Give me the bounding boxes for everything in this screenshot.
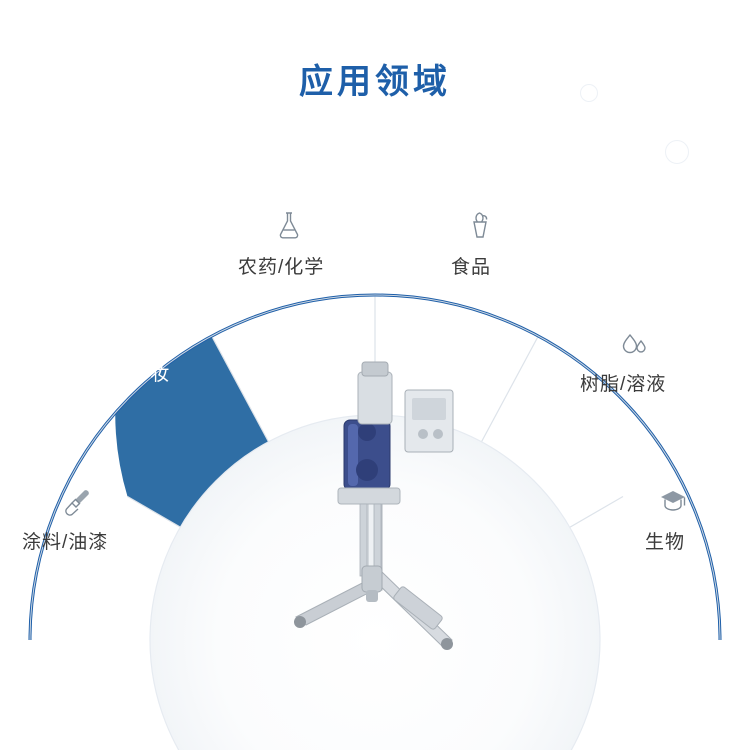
brush-icon [60,485,94,519]
segment-label-pesticide-chemical[interactable]: 农药/化学 [238,252,324,279]
microscope-icon [656,486,690,520]
food-cup-icon [462,208,496,242]
segment-label-biology[interactable]: 生物 [645,527,685,554]
segment-label-skincare-cosmetics[interactable]: 护肤/彩妆 [84,359,170,386]
application-fields-diagram: 应用领域 [0,0,750,750]
cosmetics-icon [121,317,155,351]
segment-label-resin-solution[interactable]: 树脂/溶液 [580,369,666,396]
segment-label-food[interactable]: 食品 [451,252,491,279]
segment-label-coating-paint[interactable]: 涂料/油漆 [22,527,108,554]
droplets-icon [617,327,651,361]
flask-icon [272,208,306,242]
